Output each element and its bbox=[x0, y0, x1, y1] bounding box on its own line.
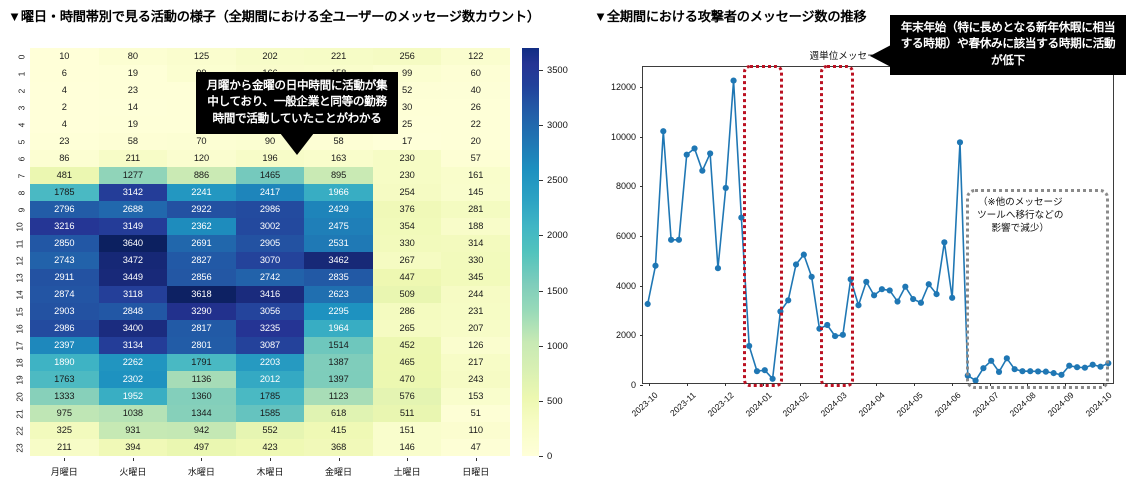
heatmap-y-tick-label: 15 bbox=[0, 303, 28, 320]
line-chart-y-tick-mark bbox=[640, 137, 643, 138]
line-data-point bbox=[879, 286, 885, 292]
heatmap-cell: 6 bbox=[30, 65, 99, 82]
heatmap-cell: 221 bbox=[304, 48, 373, 65]
line-chart-x-tick-label: 2024-09 bbox=[1046, 390, 1076, 419]
heatmap-y-tick-label: 8 bbox=[0, 184, 28, 201]
line-chart: 週単位メッセージ数の推移 020004000600080001000012000… bbox=[608, 48, 1126, 393]
line-data-point bbox=[707, 150, 713, 156]
line-data-point bbox=[652, 263, 658, 269]
line-chart-x-tick-mark bbox=[725, 383, 726, 386]
line-data-point bbox=[887, 287, 893, 293]
line-chart-x-tick-label: 2023-11 bbox=[668, 390, 698, 418]
colorbar-tick-label: 1000 bbox=[547, 340, 568, 351]
heatmap-y-tick-label: 21 bbox=[0, 405, 28, 422]
heatmap-y-tick-label: 17 bbox=[0, 337, 28, 354]
heatmap-cell: 2362 bbox=[167, 218, 236, 235]
heatmap-cell: 80 bbox=[99, 48, 168, 65]
heatmap-cell: 17 bbox=[373, 133, 442, 150]
linechart-annotation-text: 年末年始（特に長めとなる新年休暇に相当する時期）や春休みに該当する時期に活動が低… bbox=[901, 21, 1116, 67]
line-chart-y-tick-label: 2000 bbox=[616, 330, 643, 340]
heatmap-cell: 126 bbox=[441, 337, 510, 354]
decline-note-text: （※他のメッセージツールへ移行などの影響で減少） bbox=[977, 197, 1063, 236]
heatmap-y-tick-label: 11 bbox=[0, 235, 28, 252]
heatmap-cell: 2262 bbox=[99, 354, 168, 371]
line-chart-x-tick-label: 2024-02 bbox=[781, 390, 811, 419]
heatmap-y-tick-label: 10 bbox=[0, 218, 28, 235]
line-data-point bbox=[793, 261, 799, 267]
heatmap-cell: 3087 bbox=[236, 337, 305, 354]
heatmap-cell: 1360 bbox=[167, 388, 236, 405]
heatmap-cell: 3235 bbox=[236, 320, 305, 337]
line-chart-y-tick-mark bbox=[640, 286, 643, 287]
heatmap-cell: 1333 bbox=[30, 388, 99, 405]
heatmap-cell: 2905 bbox=[236, 235, 305, 252]
line-data-point bbox=[933, 291, 939, 297]
heatmap-cell: 3290 bbox=[167, 303, 236, 320]
heatmap-cell: 1785 bbox=[30, 184, 99, 201]
line-chart-x-tick-mark bbox=[914, 383, 915, 386]
line-chart-x-tick-label: 2024-10 bbox=[1084, 390, 1114, 419]
heatmap-cell: 2295 bbox=[304, 303, 373, 320]
heatmap-cell: 211 bbox=[30, 439, 99, 456]
heatmap-cell: 314 bbox=[441, 235, 510, 252]
heatmap-x-tick-mark bbox=[476, 458, 477, 461]
heatmap-panel: ▼曜日・時間帯別で見る活動の様子（全期間における全ユーザーのメッセージ数カウント… bbox=[0, 0, 580, 480]
heatmap-y-tick-label: 16 bbox=[0, 320, 28, 337]
heatmap-y-tick-label: 2 bbox=[0, 82, 28, 99]
line-chart-x-tick-label: 2023-12 bbox=[705, 390, 735, 419]
heatmap-cell: 146 bbox=[373, 439, 442, 456]
line-chart-y-tick-mark bbox=[640, 87, 643, 88]
line-data-point bbox=[910, 296, 916, 302]
line-data-point bbox=[691, 145, 697, 151]
heatmap-cell: 51 bbox=[441, 405, 510, 422]
heatmap-cell: 1136 bbox=[167, 371, 236, 388]
heatmap-cell: 2796 bbox=[30, 201, 99, 218]
heatmap-cell: 3002 bbox=[236, 218, 305, 235]
decline-note-line: ツールへ移行などの bbox=[977, 210, 1063, 223]
heatmap-cell: 509 bbox=[373, 286, 442, 303]
heatmap-cell: 3216 bbox=[30, 218, 99, 235]
heatmap-cell: 2 bbox=[30, 99, 99, 116]
heatmap-cell: 452 bbox=[373, 337, 442, 354]
heatmap-cell: 231 bbox=[441, 303, 510, 320]
heatmap-cell: 1397 bbox=[304, 371, 373, 388]
heatmap-cell: 265 bbox=[373, 320, 442, 337]
heatmap-y-tick-label: 7 bbox=[0, 167, 28, 184]
heatmap-annotation-callout: 月曜から金曜の日中時間に活動が集中しており、一般企業と同等の勤務時間で活動してい… bbox=[196, 72, 398, 134]
heatmap-cell: 3416 bbox=[236, 286, 305, 303]
heatmap-cell: 57 bbox=[441, 150, 510, 167]
line-chart-x-tick-mark bbox=[876, 383, 877, 386]
heatmap-y-tick-label: 22 bbox=[0, 422, 28, 439]
heatmap-cell: 2903 bbox=[30, 303, 99, 320]
line-data-point bbox=[684, 152, 690, 158]
heatmap-cell: 70 bbox=[167, 133, 236, 150]
line-data-point bbox=[809, 274, 815, 280]
heatmap-y-tick-label: 18 bbox=[0, 354, 28, 371]
colorbar-tick-label: 2000 bbox=[547, 229, 568, 240]
heatmap-y-tick-label: 12 bbox=[0, 252, 28, 269]
heatmap-y-tick-label: 23 bbox=[0, 439, 28, 456]
heatmap-cell: 1387 bbox=[304, 354, 373, 371]
highlight-box-spring bbox=[820, 65, 854, 387]
heatmap-x-tick-label: 日曜日 bbox=[441, 458, 510, 482]
line-chart-y-tick-label: 12000 bbox=[611, 82, 643, 92]
heatmap-cell: 267 bbox=[373, 252, 442, 269]
line-chart-y-tick-label: 8000 bbox=[616, 181, 643, 191]
heatmap-cell: 1966 bbox=[304, 184, 373, 201]
heatmap-cell: 3056 bbox=[236, 303, 305, 320]
heatmap-x-tick-mark bbox=[339, 458, 340, 461]
colorbar-tick-label: 1500 bbox=[547, 285, 568, 296]
heatmap-cell: 19 bbox=[99, 65, 168, 82]
line-chart-y-tick-mark bbox=[640, 385, 643, 386]
heatmap-cell: 2417 bbox=[236, 184, 305, 201]
line-chart-y-tick-mark bbox=[640, 186, 643, 187]
heatmap-x-tick-label: 月曜日 bbox=[30, 458, 99, 482]
colorbar-tick-label: 0 bbox=[547, 450, 552, 461]
line-chart-y-tick-mark bbox=[640, 236, 643, 237]
heatmap-y-tick-label: 6 bbox=[0, 150, 28, 167]
heatmap-cell: 2743 bbox=[30, 252, 99, 269]
heatmap-cell: 2850 bbox=[30, 235, 99, 252]
heatmap-cell: 1763 bbox=[30, 371, 99, 388]
line-data-point bbox=[715, 265, 721, 271]
heatmap-x-axis-labels: 月曜日火曜日水曜日木曜日金曜日土曜日日曜日 bbox=[30, 458, 510, 482]
line-data-point bbox=[871, 292, 877, 298]
decline-note-line: 影響で減少） bbox=[977, 223, 1063, 236]
heatmap-cell: 3462 bbox=[304, 252, 373, 269]
heatmap-cell: 1964 bbox=[304, 320, 373, 337]
heatmap-y-tick-label: 4 bbox=[0, 116, 28, 133]
heatmap-cell: 2817 bbox=[167, 320, 236, 337]
heatmap-cell: 4 bbox=[30, 82, 99, 99]
heatmap-cell: 14 bbox=[99, 99, 168, 116]
heatmap-cell: 86 bbox=[30, 150, 99, 167]
heatmap-cell: 423 bbox=[236, 439, 305, 456]
colorbar-tick-label: 3000 bbox=[547, 119, 568, 130]
colorbar-gradient bbox=[522, 48, 539, 456]
heatmap-cell: 2848 bbox=[99, 303, 168, 320]
heatmap-cell: 3472 bbox=[99, 252, 168, 269]
heatmap-y-tick-label: 13 bbox=[0, 269, 28, 286]
heatmap-cell: 3118 bbox=[99, 286, 168, 303]
line-chart-x-tick-label: 2024-08 bbox=[1008, 390, 1038, 419]
heatmap-cell: 497 bbox=[167, 439, 236, 456]
heatmap-cell: 2475 bbox=[304, 218, 373, 235]
heatmap-cell: 576 bbox=[373, 388, 442, 405]
heatmap-colorbar: 0500100015002000250030003500 bbox=[522, 48, 580, 456]
line-data-point bbox=[699, 168, 705, 174]
heatmap-cell: 202 bbox=[236, 48, 305, 65]
heatmap-cell: 244 bbox=[441, 286, 510, 303]
heatmap-cell: 345 bbox=[441, 269, 510, 286]
callout-tail-icon bbox=[870, 45, 891, 67]
right-panel-heading: ▼全期間における攻撃者のメッセージ数の推移 bbox=[594, 6, 866, 25]
heatmap-cell: 330 bbox=[441, 252, 510, 269]
heatmap-cell: 2302 bbox=[99, 371, 168, 388]
colorbar-tick-label: 3500 bbox=[547, 64, 568, 75]
heatmap-cell: 470 bbox=[373, 371, 442, 388]
heatmap-cell: 3134 bbox=[99, 337, 168, 354]
linechart-annotation-callout: 年末年始（特に長めとなる新年休暇に相当する時期）や春休みに該当する時期に活動が低… bbox=[890, 15, 1126, 75]
heatmap-cell: 22 bbox=[441, 116, 510, 133]
line-chart-y-tick-label: 4000 bbox=[616, 281, 643, 291]
heatmap-cell: 20 bbox=[441, 133, 510, 150]
heatmap-cell: 58 bbox=[99, 133, 168, 150]
heatmap-cell: 230 bbox=[373, 150, 442, 167]
heatmap-cell: 60 bbox=[441, 65, 510, 82]
heatmap-cell: 2742 bbox=[236, 269, 305, 286]
line-data-point bbox=[660, 128, 666, 134]
line-data-point bbox=[918, 300, 924, 306]
heatmap-cell: 447 bbox=[373, 269, 442, 286]
line-data-point bbox=[645, 301, 651, 307]
heatmap-cell: 1952 bbox=[99, 388, 168, 405]
heatmap-x-tick-mark bbox=[201, 458, 202, 461]
heatmap-cell: 2531 bbox=[304, 235, 373, 252]
heatmap-cell: 481 bbox=[30, 167, 99, 184]
heatmap-cell: 376 bbox=[373, 201, 442, 218]
heatmap-cell: 394 bbox=[99, 439, 168, 456]
heatmap-cell: 1277 bbox=[99, 167, 168, 184]
line-chart-y-tick-label: 10000 bbox=[611, 132, 643, 142]
line-chart-y-tick-label: 6000 bbox=[616, 231, 643, 241]
heatmap-cell: 975 bbox=[30, 405, 99, 422]
heatmap-y-axis-labels: 01234567891011121314151617181920212223 bbox=[0, 48, 28, 456]
line-chart-plot-area: 0200040006000800010000120002023-102023-1… bbox=[642, 66, 1114, 384]
heatmap-cell: 2827 bbox=[167, 252, 236, 269]
heatmap-y-tick-label: 14 bbox=[0, 286, 28, 303]
heatmap-annotation-text: 月曜から金曜の日中時間に活動が集中しており、一般企業と同等の勤務時間で活動してい… bbox=[207, 79, 388, 125]
heatmap-cell: 2922 bbox=[167, 201, 236, 218]
highlight-box-newyear bbox=[743, 65, 782, 387]
heatmap-cell: 2623 bbox=[304, 286, 373, 303]
heatmap-cell: 40 bbox=[441, 82, 510, 99]
heatmap-cell: 188 bbox=[441, 218, 510, 235]
heatmap-cell: 1585 bbox=[236, 405, 305, 422]
heatmap-cell: 2688 bbox=[99, 201, 168, 218]
heatmap-cell: 3640 bbox=[99, 235, 168, 252]
heatmap-cell: 1465 bbox=[236, 167, 305, 184]
heatmap-cell: 2203 bbox=[236, 354, 305, 371]
heatmap-y-tick-label: 1 bbox=[0, 65, 28, 82]
heatmap-y-tick-label: 9 bbox=[0, 201, 28, 218]
line-chart-x-tick-label: 2023-10 bbox=[630, 390, 660, 419]
colorbar-tick-label: 500 bbox=[547, 395, 563, 406]
line-chart-x-tick-label: 2024-07 bbox=[970, 390, 1000, 419]
heatmap-cell: 281 bbox=[441, 201, 510, 218]
heatmap-cell: 1344 bbox=[167, 405, 236, 422]
heatmap-cell: 254 bbox=[373, 184, 442, 201]
heatmap-cell: 211 bbox=[99, 150, 168, 167]
heatmap-x-tick-label: 火曜日 bbox=[99, 458, 168, 482]
heatmap-cell: 3070 bbox=[236, 252, 305, 269]
heatmap-cell: 243 bbox=[441, 371, 510, 388]
line-chart-x-tick-mark bbox=[800, 383, 801, 386]
heatmap-cell: 58 bbox=[304, 133, 373, 150]
heatmap-cell: 2801 bbox=[167, 337, 236, 354]
line-data-point bbox=[894, 298, 900, 304]
heatmap-cell: 2911 bbox=[30, 269, 99, 286]
heatmap-cell: 415 bbox=[304, 422, 373, 439]
heatmap-cell: 3142 bbox=[99, 184, 168, 201]
heatmap-x-tick-label: 金曜日 bbox=[304, 458, 373, 482]
heatmap-cell: 23 bbox=[99, 82, 168, 99]
heatmap-x-tick-label: 土曜日 bbox=[373, 458, 442, 482]
heatmap-cell: 2429 bbox=[304, 201, 373, 218]
heatmap-cell: 330 bbox=[373, 235, 442, 252]
heatmap-y-tick-label: 0 bbox=[0, 48, 28, 65]
heatmap-x-tick-mark bbox=[64, 458, 65, 461]
line-chart-x-tick-mark bbox=[952, 383, 953, 386]
line-chart-x-tick-mark bbox=[649, 383, 650, 386]
line-data-point bbox=[785, 297, 791, 303]
heatmap-cell: 354 bbox=[373, 218, 442, 235]
heatmap-cell: 1038 bbox=[99, 405, 168, 422]
heatmap-y-tick-label: 3 bbox=[0, 99, 28, 116]
heatmap-y-tick-label: 19 bbox=[0, 371, 28, 388]
heatmap-cell: 931 bbox=[99, 422, 168, 439]
heatmap-cell: 161 bbox=[441, 167, 510, 184]
heatmap-cell: 2986 bbox=[236, 201, 305, 218]
heatmap-cell: 368 bbox=[304, 439, 373, 456]
heatmap-cell: 2986 bbox=[30, 320, 99, 337]
heatmap-cell: 207 bbox=[441, 320, 510, 337]
heatmap-cell: 153 bbox=[441, 388, 510, 405]
heatmap-cell: 47 bbox=[441, 439, 510, 456]
line-data-point bbox=[668, 237, 674, 243]
line-data-point bbox=[676, 237, 682, 243]
heatmap-cell: 895 bbox=[304, 167, 373, 184]
heatmap-cell: 1791 bbox=[167, 354, 236, 371]
heatmap-cell: 120 bbox=[167, 150, 236, 167]
heatmap-cell: 2856 bbox=[167, 269, 236, 286]
heatmap-cell: 618 bbox=[304, 405, 373, 422]
heatmap-cell: 3618 bbox=[167, 286, 236, 303]
heatmap-cell: 2397 bbox=[30, 337, 99, 354]
heatmap-cell: 1123 bbox=[304, 388, 373, 405]
heatmap-x-tick-mark bbox=[407, 458, 408, 461]
line-data-point bbox=[723, 185, 729, 191]
heatmap-y-tick-label: 20 bbox=[0, 388, 28, 405]
heatmap-cell: 19 bbox=[99, 116, 168, 133]
heatmap-cell: 886 bbox=[167, 167, 236, 184]
heatmap-cell: 286 bbox=[373, 303, 442, 320]
heatmap-cell: 256 bbox=[373, 48, 442, 65]
heatmap-cell: 1785 bbox=[236, 388, 305, 405]
linechart-panel: ▼全期間における攻撃者のメッセージ数の推移 週単位メッセージ数の推移 02000… bbox=[580, 0, 1140, 480]
heatmap-cell: 3400 bbox=[99, 320, 168, 337]
heatmap-cell: 2835 bbox=[304, 269, 373, 286]
heatmap-cell: 1890 bbox=[30, 354, 99, 371]
heatmap-cell: 3449 bbox=[99, 269, 168, 286]
line-chart-x-tick-label: 2024-06 bbox=[932, 390, 962, 419]
line-data-point bbox=[949, 295, 955, 301]
heatmap-cell: 26 bbox=[441, 99, 510, 116]
line-data-point bbox=[902, 284, 908, 290]
heatmap-cell: 1514 bbox=[304, 337, 373, 354]
heatmap-cell: 122 bbox=[441, 48, 510, 65]
heatmap-cell: 230 bbox=[373, 167, 442, 184]
heatmap-cell: 23 bbox=[30, 133, 99, 150]
heatmap-x-tick-label: 水曜日 bbox=[167, 458, 236, 482]
heatmap-cell: 217 bbox=[441, 354, 510, 371]
line-data-point bbox=[855, 302, 861, 308]
callout-tail-icon bbox=[280, 133, 314, 155]
decline-note-line: （※他のメッセージ bbox=[977, 197, 1063, 210]
colorbar-tick-label: 2500 bbox=[547, 174, 568, 185]
heatmap-cell: 465 bbox=[373, 354, 442, 371]
line-data-point bbox=[941, 239, 947, 245]
heatmap-x-tick-mark bbox=[270, 458, 271, 461]
heatmap-y-tick-label: 5 bbox=[0, 133, 28, 150]
heatmap-cell: 163 bbox=[304, 150, 373, 167]
heatmap-cell: 325 bbox=[30, 422, 99, 439]
line-chart-x-tick-label: 2024-04 bbox=[857, 390, 887, 419]
line-chart-x-tick-label: 2024-01 bbox=[743, 390, 773, 419]
line-chart-x-tick-label: 2024-05 bbox=[894, 390, 924, 419]
left-panel-heading: ▼曜日・時間帯別で見る活動の様子（全期間における全ユーザーのメッセージ数カウント… bbox=[8, 6, 540, 25]
heatmap-cell: 110 bbox=[441, 422, 510, 439]
heatmap-cell: 2241 bbox=[167, 184, 236, 201]
heatmap-cell: 10 bbox=[30, 48, 99, 65]
heatmap-cell: 942 bbox=[167, 422, 236, 439]
heatmap-cell: 4 bbox=[30, 116, 99, 133]
heatmap-cell: 511 bbox=[373, 405, 442, 422]
line-data-point bbox=[801, 252, 807, 258]
heatmap-x-tick-label: 木曜日 bbox=[236, 458, 305, 482]
line-data-point bbox=[957, 139, 963, 145]
heatmap-cell: 145 bbox=[441, 184, 510, 201]
heatmap-cell: 2691 bbox=[167, 235, 236, 252]
heatmap-x-tick-mark bbox=[133, 458, 134, 461]
line-data-point bbox=[863, 279, 869, 285]
heatmap-cell: 3149 bbox=[99, 218, 168, 235]
line-chart-y-tick-mark bbox=[640, 335, 643, 336]
heatmap-cell: 125 bbox=[167, 48, 236, 65]
line-data-point bbox=[926, 281, 932, 287]
heatmap-cell: 2012 bbox=[236, 371, 305, 388]
line-chart-x-tick-label: 2024-03 bbox=[819, 390, 849, 419]
heatmap-cell: 151 bbox=[373, 422, 442, 439]
line-data-point bbox=[730, 77, 736, 83]
heatmap-cell: 2874 bbox=[30, 286, 99, 303]
line-chart-x-tick-mark bbox=[687, 383, 688, 386]
heatmap-cell: 552 bbox=[236, 422, 305, 439]
